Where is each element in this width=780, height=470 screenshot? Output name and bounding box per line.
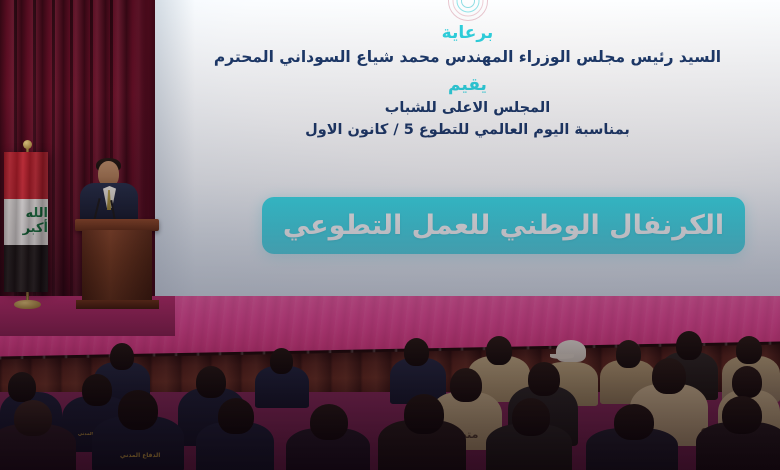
flag-stand-base <box>14 300 41 309</box>
audience-head <box>82 374 112 406</box>
audience-head <box>676 331 702 360</box>
audience-head <box>110 343 134 370</box>
audience-head <box>652 358 686 394</box>
slide-text-block: برعاية السيد رئيس مجلس الوزراء المهندس م… <box>155 24 780 139</box>
event-title-banner: الكرنفال الوطني للعمل التطوعي <box>262 197 745 254</box>
audience-head <box>270 348 293 374</box>
audience-head <box>404 394 444 434</box>
flag-finial <box>23 140 32 149</box>
audience-head <box>310 404 348 440</box>
audience-head <box>8 372 36 402</box>
audience-head <box>614 404 654 440</box>
slide-line-patronage: برعاية <box>155 24 780 44</box>
speaking-podium <box>82 230 152 302</box>
audience-head <box>732 366 762 398</box>
audience-head <box>736 336 762 364</box>
slide-line-organizer: المجلس الاعلى للشباب <box>155 100 780 117</box>
audience-head <box>196 366 226 398</box>
projection-screen: برعاية السيد رئيس مجلس الوزراء المهندس م… <box>155 0 780 300</box>
audience-head <box>512 398 550 436</box>
iraq-flag: الله أكبر <box>4 152 48 292</box>
audience-head <box>450 368 482 402</box>
audience-head <box>528 362 560 396</box>
audience-head <box>616 340 641 368</box>
slide-line-hosts-verb: يقيم <box>155 76 780 96</box>
event-title-text: الكرنفال الوطني للعمل التطوعي <box>283 210 724 241</box>
slide-line-occasion: بمناسبة اليوم العالمي للتطوع 5 / كانون ا… <box>155 122 780 139</box>
audience-head <box>404 338 429 366</box>
conference-photo-scene: برعاية السيد رئيس مجلس الوزراء المهندس م… <box>0 0 780 470</box>
audience-head <box>218 398 254 434</box>
audience-head <box>118 390 158 430</box>
audience-head <box>722 396 762 434</box>
audience-head <box>486 336 512 365</box>
council-logo <box>155 0 780 18</box>
slide-line-pm-name: السيد رئيس مجلس الوزراء المهندس محمد شيا… <box>155 49 780 67</box>
cap-brim <box>550 354 574 359</box>
podium-base <box>76 300 159 309</box>
audience-head <box>14 400 52 436</box>
uniform-back-script: الدفاع المدني <box>120 452 160 459</box>
